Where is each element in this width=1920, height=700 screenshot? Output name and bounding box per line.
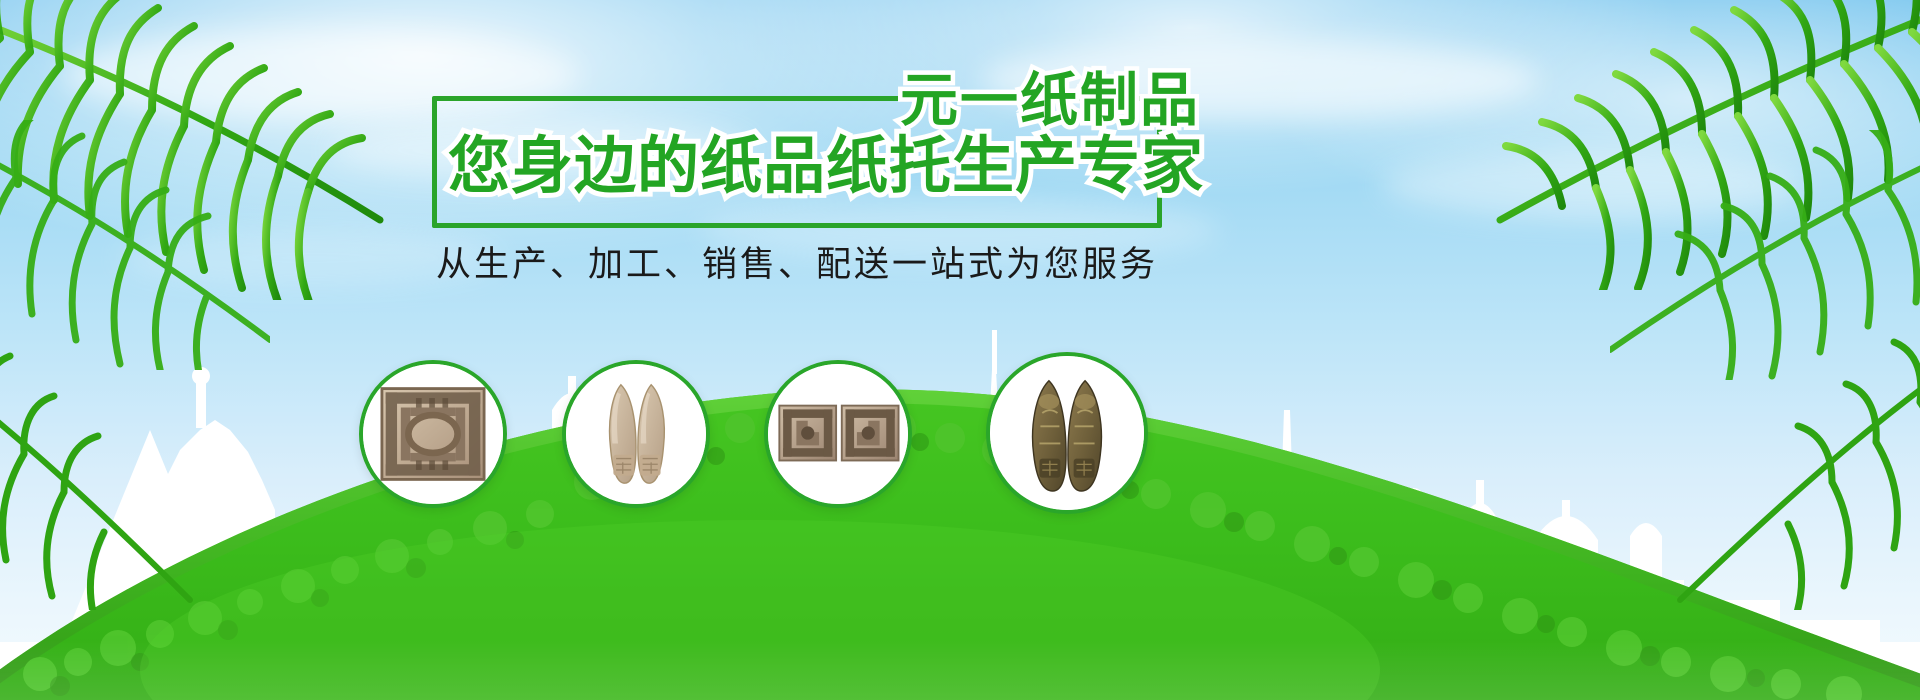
product-circle-paper-pulp-corner-pair[interactable] <box>764 360 912 508</box>
paper-pulp-shoe-trees-image <box>990 356 1144 510</box>
product-circle-paper-pulp-tray-square[interactable] <box>359 360 507 508</box>
paper-pulp-shoe-inserts-image <box>566 364 706 504</box>
product-circle-paper-pulp-shoe-trees[interactable] <box>986 352 1148 514</box>
product-circle-group <box>0 0 1920 700</box>
paper-pulp-tray-square-image <box>363 364 503 504</box>
paper-pulp-corner-pair-image <box>768 364 908 504</box>
promo-banner: 元一纸制品 您身边的纸品纸托生产专家 从生产、加工、销售、配送一站式为您服务 <box>0 0 1920 700</box>
product-circle-paper-pulp-shoe-inserts[interactable] <box>562 360 710 508</box>
